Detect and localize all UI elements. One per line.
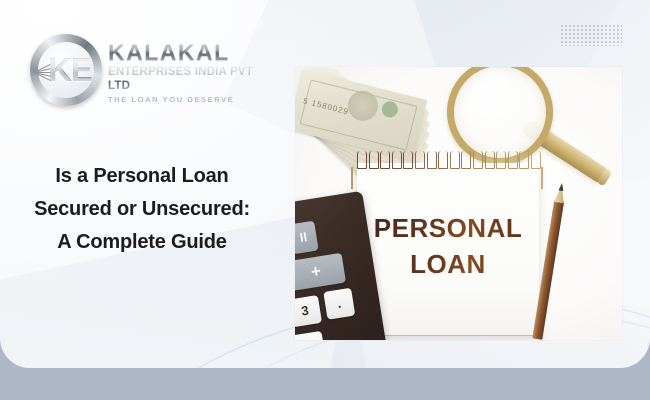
logo-monogram: KE: [42, 49, 98, 91]
notepad-text-line-1: PERSONAL: [357, 213, 539, 244]
notepad-spiral-binding: [353, 151, 543, 169]
headline-line-3: A Complete Guide: [18, 226, 266, 259]
content-card: KE KALAKAL ENTERPRISES INDIA PVT LTD THE…: [0, 0, 650, 368]
headline-line-1: Is a Personal Loan: [18, 160, 266, 193]
hero-photo: 5 1580029 PERSONAL LOAN II + 3 . 0: [295, 67, 622, 340]
brand-tagline: THE LOAN YOU DESERVE: [108, 94, 278, 105]
dot-grid-icon: [560, 24, 622, 46]
notepad-rod: [351, 167, 353, 189]
notepad-rod: [541, 167, 543, 189]
brand-name: KALAKAL: [108, 40, 278, 64]
notepad-text-line-2: LOAN: [357, 249, 539, 280]
headline-line-2: Secured or Unsecured:: [18, 193, 266, 226]
logo-wordmark: KALAKAL ENTERPRISES INDIA PVT LTD THE LO…: [108, 40, 278, 105]
brand-logo: KE KALAKAL ENTERPRISES INDIA PVT LTD THE…: [28, 32, 278, 116]
poster-canvas: KE KALAKAL ENTERPRISES INDIA PVT LTD THE…: [0, 0, 650, 400]
brand-subtitle: ENTERPRISES INDIA PVT LTD: [108, 65, 278, 93]
page-title: Is a Personal Loan Secured or Unsecured:…: [18, 160, 266, 259]
